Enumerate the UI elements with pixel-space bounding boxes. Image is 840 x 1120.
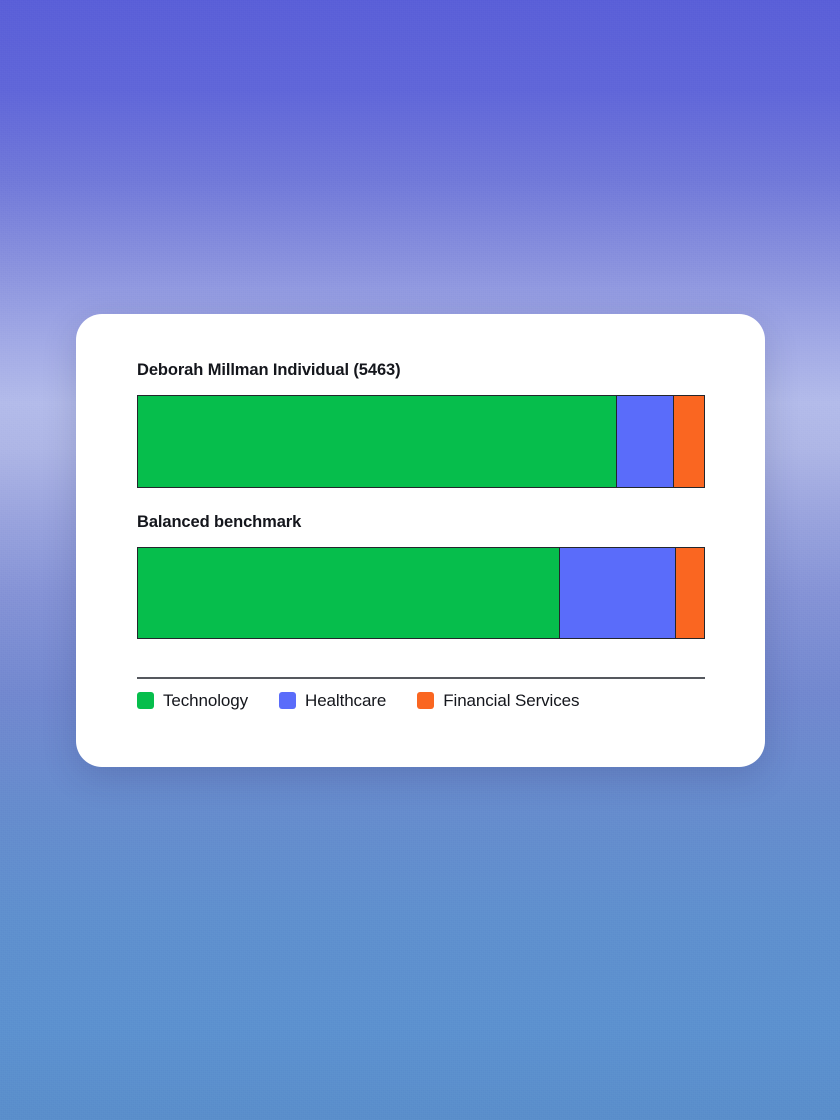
bar-segment-financial-services[interactable] — [674, 396, 704, 487]
bar-label-portfolio: Deborah Millman Individual (5463) — [137, 362, 705, 379]
bar-segment-healthcare[interactable] — [617, 396, 674, 487]
legend-swatch-technology — [137, 692, 154, 709]
legend-swatch-healthcare — [279, 692, 296, 709]
bar-segment-technology[interactable] — [138, 548, 560, 638]
allocation-comparison-card: Deborah Millman Individual (5463) Balanc… — [76, 314, 765, 767]
legend-item-financial-services[interactable]: Financial Services — [417, 692, 579, 709]
legend-divider — [137, 677, 705, 679]
chart-legend: Technology Healthcare Financial Services — [137, 692, 737, 709]
legend-label-technology: Technology — [163, 692, 248, 709]
stacked-bar-portfolio — [137, 395, 705, 488]
legend-label-healthcare: Healthcare — [305, 692, 386, 709]
bar-group-portfolio: Deborah Millman Individual (5463) — [137, 362, 705, 488]
legend-label-financial-services: Financial Services — [443, 692, 579, 709]
bar-segment-technology[interactable] — [138, 396, 617, 487]
legend-swatch-financial-services — [417, 692, 434, 709]
stacked-bar-benchmark — [137, 547, 705, 639]
bar-segment-healthcare[interactable] — [560, 548, 675, 638]
bar-label-benchmark: Balanced benchmark — [137, 514, 705, 531]
bar-segment-financial-services[interactable] — [676, 548, 704, 638]
legend-item-healthcare[interactable]: Healthcare — [279, 692, 386, 709]
bar-group-benchmark: Balanced benchmark — [137, 514, 705, 639]
legend-item-technology[interactable]: Technology — [137, 692, 248, 709]
